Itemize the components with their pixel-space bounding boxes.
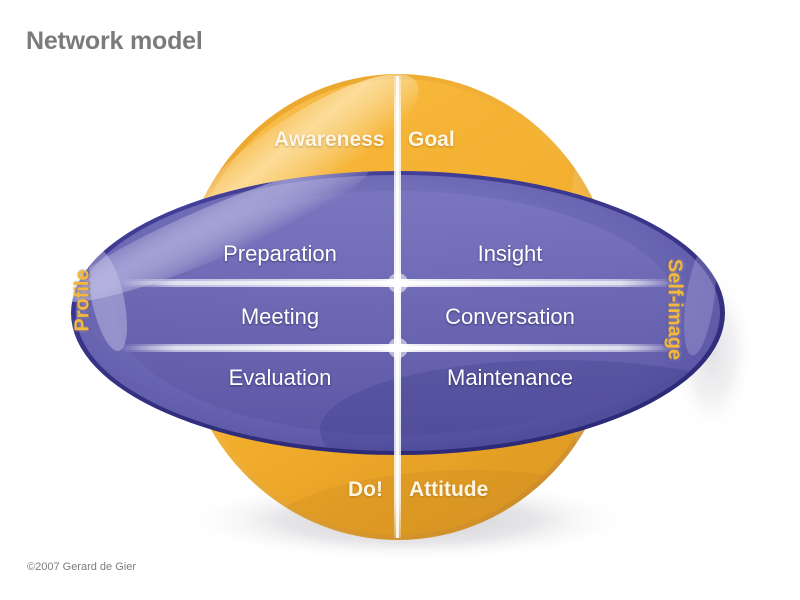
cell-evaluation: Evaluation — [170, 365, 390, 391]
cell-conversation: Conversation — [400, 304, 620, 330]
cell-insight: Insight — [400, 241, 620, 267]
cell-maintenance: Maintenance — [400, 365, 620, 391]
cell-meeting: Meeting — [170, 304, 390, 330]
label-attitude: Attitude — [409, 478, 488, 502]
label-goal: Goal — [408, 128, 455, 152]
label-awareness: Awareness — [274, 128, 385, 152]
cell-preparation: Preparation — [170, 241, 390, 267]
label-do: Do! — [348, 478, 383, 502]
network-model-diagram: Awareness Goal Do! Attitude Profile Self… — [0, 0, 800, 600]
label-profile: Profile — [72, 256, 95, 346]
diagram-canvas: Network model — [0, 0, 800, 600]
copyright-notice: ©2007 Gerard de Gier — [27, 561, 136, 573]
label-self-image: Self-image — [663, 250, 686, 370]
